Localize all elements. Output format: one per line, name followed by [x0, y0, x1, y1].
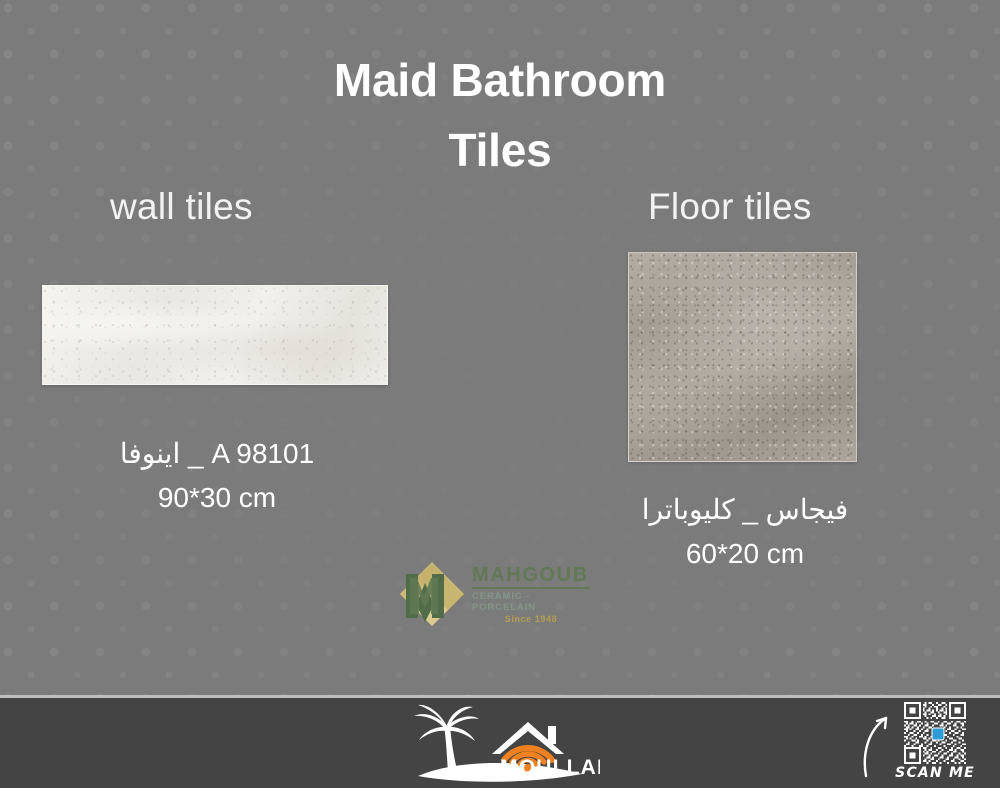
scan-me-label: SCAN ME	[894, 765, 976, 781]
poster-canvas: Maid Bathroom Tiles wall tiles اينوفا _ …	[0, 0, 1000, 788]
column-heading-wall: wall tiles	[110, 186, 253, 228]
moullak-wordmark: MOULLAK	[500, 756, 600, 779]
mahgoub-name: MAHGOUB	[472, 565, 590, 589]
caption-floor-tile: فيجاس _ كليوباترا 60*20 cm	[610, 488, 880, 576]
curved-arrow-icon	[860, 702, 894, 782]
swatch-wall-tile	[42, 285, 388, 385]
footer-bar: MOULLAK	[0, 695, 1000, 788]
caption-wall-tile: اينوفا _ A 98101 90*30 cm	[52, 432, 382, 520]
swatch-floor-tile	[628, 252, 857, 462]
mahgoub-since: Since 1948	[472, 615, 590, 625]
scan-me-block[interactable]: SCAN ME	[860, 702, 988, 788]
moullak-logo: MOULLAK	[400, 704, 600, 786]
mahgoub-subtitle: CERAMIC - PORCELAIN	[472, 592, 590, 613]
qr-code-wrapper[interactable]: SCAN ME	[894, 702, 982, 781]
column-heading-floor: Floor tiles	[648, 186, 812, 228]
page-title: Maid Bathroom Tiles	[0, 46, 1000, 186]
mahgoub-logo-text: MAHGOUB CERAMIC - PORCELAIN Since 1948	[472, 563, 590, 625]
mahgoub-diamond-m-icon	[398, 560, 466, 628]
qr-center-brand-icon	[932, 727, 945, 740]
mahgoub-logo: MAHGOUB CERAMIC - PORCELAIN Since 1948	[398, 558, 590, 630]
